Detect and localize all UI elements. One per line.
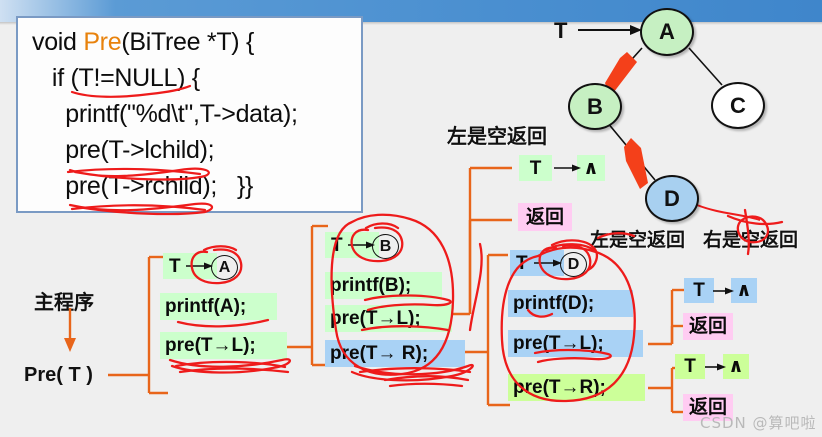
- right-null-caret-2: ∧: [723, 354, 749, 379]
- frame-b-t-label: T: [325, 232, 379, 258]
- frame-a-pre-left: pre(T→L);: [160, 332, 287, 359]
- annotation-left-empty-return-1: 左是空返回: [447, 120, 547, 149]
- frame-b-printf: printf(B);: [325, 272, 442, 299]
- code-line-5: pre(T->rchild); }}: [32, 172, 253, 201]
- code-keyword: Pre: [83, 28, 121, 56]
- code-line-4: pre(T->lchild);: [32, 136, 214, 165]
- tree-node-a[interactable]: A: [640, 8, 694, 56]
- code-text: void: [32, 28, 83, 56]
- right-null-t-1: T: [684, 278, 714, 303]
- right-null-caret-1: ∧: [731, 278, 757, 303]
- frame-d-printf: printf(D);: [508, 290, 633, 317]
- annotation-right-empty-return: 右是空返回: [703, 225, 798, 252]
- frame-b-pre-left: pre(T→L);: [325, 305, 452, 332]
- entry-call-label: Pre( T ): [24, 364, 93, 387]
- frame-b-node-b: B: [372, 234, 399, 259]
- frame-d-pre-left: pre(T→L);: [508, 330, 643, 357]
- watermark: CSDN @算吧啦: [700, 412, 817, 433]
- code-line-2: if (T!=NULL) {: [32, 64, 200, 93]
- frame-d-pre-right: pre(T→R);: [508, 374, 645, 401]
- slide-canvas: void Pre(BiTree *T) { if (T!=NULL) { pri…: [0, 0, 822, 437]
- right-null-t-2: T: [675, 354, 705, 379]
- code-text: (BiTree *T) {: [121, 28, 254, 56]
- frame-d-t-label: T: [510, 250, 564, 276]
- code-line-1: void Pre(BiTree *T) {: [32, 28, 254, 57]
- tree-node-b[interactable]: B: [568, 83, 622, 130]
- right-return-box-1: 返回: [683, 313, 733, 340]
- frame-d-node-d: D: [560, 252, 587, 277]
- code-panel: void Pre(BiTree *T) { if (T!=NULL) { pri…: [16, 16, 363, 213]
- tree-pointer-label: T: [554, 18, 567, 44]
- frame-b-pre-right: pre(T→ R);: [325, 340, 465, 367]
- frame-a-printf: printf(A);: [160, 293, 277, 320]
- frame-a-t-label: T: [163, 253, 217, 279]
- tree-node-c[interactable]: C: [711, 82, 765, 129]
- code-line-3: printf("%d\t",T->data);: [32, 100, 298, 129]
- frame-a-node-a: A: [211, 255, 238, 280]
- middle-null-t: T: [519, 155, 552, 181]
- middle-return-box: 返回: [518, 203, 572, 231]
- main-program-label: 主程序: [34, 286, 94, 315]
- tree-node-d[interactable]: D: [645, 175, 699, 222]
- annotation-left-empty-return-2: 左是空返回: [590, 225, 685, 252]
- middle-null-caret: ∧: [577, 155, 605, 181]
